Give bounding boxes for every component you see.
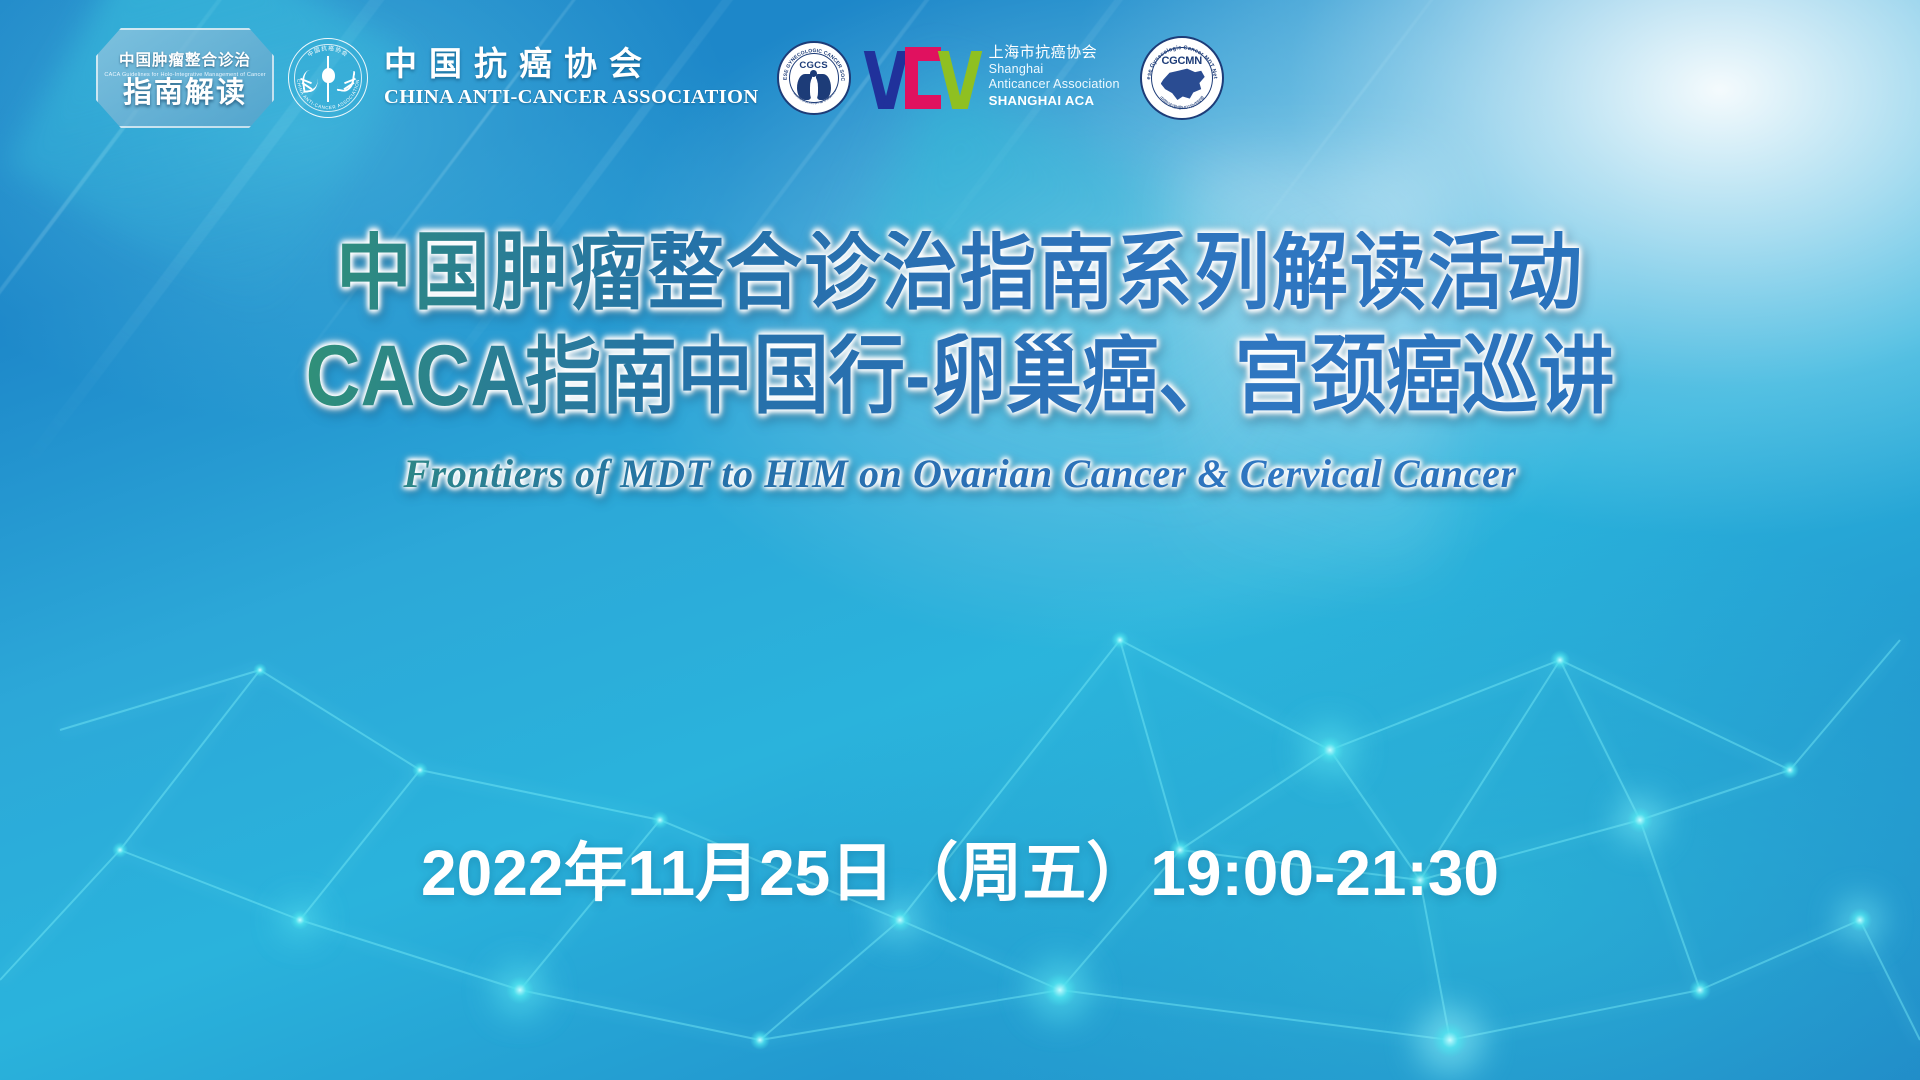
aca-name-cn: 上海市抗癌协会: [989, 44, 1120, 62]
title-block: 中国肿瘤整合诊治指南系列解读活动 CACA指南中国行-卵巢癌、宫颈癌巡讲 Fro…: [0, 240, 1920, 494]
title-line-cn-2: CACA指南中国行-卵巢癌、宫颈癌巡讲: [0, 333, 1920, 420]
cgcmn-acronym: CGCMN: [1152, 55, 1212, 67]
cgcmn-seal-logo: Chinese Gynecologic Cancer MDT Network 中…: [1140, 36, 1224, 120]
event-datetime: 2022年11月25日（周五）19:00-21:30: [0, 822, 1920, 914]
shanghai-aca-logo: 上海市抗癌协会 Shanghai Anticancer Association …: [869, 47, 1120, 109]
caca-wordmark-en: CHINA ANTI-CANCER ASSOCIATION: [384, 86, 759, 109]
badge-line-3: 指南解读: [123, 79, 247, 108]
caca-wordmark: 中国抗癌协会 CHINA ANTI-CANCER ASSOCIATION: [384, 47, 759, 109]
cgcs-seal-logo: CHINESE GYNECOLOGIC CANCER SOCIETY 中国抗癌协…: [777, 41, 851, 115]
title-subtitle-en: Frontiers of MDT to HIM on Ovarian Cance…: [0, 454, 1920, 494]
figure-emblem-icon: [797, 70, 831, 100]
badge-line-2: CACA Guidelines for Holo-Integrative Man…: [104, 72, 265, 78]
aca-name-en-1: Shanghai: [989, 62, 1120, 77]
event-poster: 中国肿瘤整合诊治 CACA Guidelines for Holo-Integr…: [0, 0, 1920, 1080]
guide-interpretation-badge: 中国肿瘤整合诊治 CACA Guidelines for Holo-Integr…: [96, 28, 274, 128]
china-map-icon: [1161, 68, 1205, 102]
svg-text:中国抗癌协会: 中国抗癌协会: [306, 44, 350, 59]
aca-glyph-icon: [869, 47, 977, 109]
title-line-cn-1: 中国肿瘤整合诊治指南系列解读活动: [0, 231, 1920, 316]
badge-line-1: 中国肿瘤整合诊治: [119, 48, 251, 70]
aca-name-bold: SHANGHAI ACA: [989, 93, 1120, 108]
background-light-streaks: [0, 0, 1920, 1080]
network-background-graphic: [0, 520, 1920, 1080]
crab-emblem-icon: [308, 58, 348, 98]
caca-seal-logo: 中国抗癌协会 CHINA ANTI-CANCER ASSOCIATION: [288, 38, 368, 118]
sponsor-logo-bar: 中国肿瘤整合诊治 CACA Guidelines for Holo-Integr…: [96, 26, 1224, 130]
caca-ring-cn: 中国抗癌协会: [306, 44, 350, 59]
aca-name-en-2: Anticancer Association: [989, 77, 1120, 92]
caca-seal-ring-text: 中国抗癌协会 CHINA ANTI-CANCER ASSOCIATION: [287, 37, 369, 119]
caca-wordmark-cn: 中国抗癌协会: [384, 47, 759, 85]
svg-text:CHINA ANTI-CANCER ASSOCIATION: CHINA ANTI-CANCER ASSOCIATION: [296, 79, 360, 110]
